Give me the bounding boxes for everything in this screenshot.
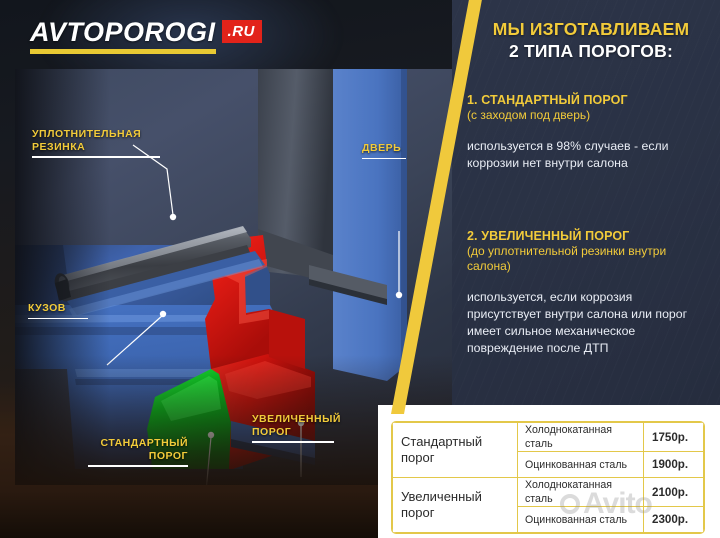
price-cell: 2300р. — [644, 507, 704, 533]
table-row: Стандартный порог Холоднокатанная сталь … — [393, 423, 704, 452]
price-cell: 1750р. — [644, 423, 704, 452]
price-cell: 1900р. — [644, 452, 704, 478]
price-table: Стандартный порог Холоднокатанная сталь … — [391, 421, 705, 534]
watermark-text: Avito — [583, 487, 652, 521]
row-label-enlarged: Увеличенный порог — [393, 478, 518, 533]
label-underline — [32, 156, 160, 158]
label-sealing-rubber-text: УПЛОТНИТЕЛЬНАЯ РЕЗИНКА — [32, 128, 141, 153]
headline-line-1: МЫ ИЗГОТАВЛИВАЕМ — [471, 18, 711, 40]
poster-root: AVTOPOROGI .RU — [0, 0, 720, 538]
price-cell: 2100р. — [644, 478, 704, 507]
block-1-body: используется в 98% случаев - если корроз… — [467, 138, 701, 172]
logo-underline-bar — [30, 49, 216, 54]
label-door: ДВЕРЬ — [362, 142, 406, 159]
headline: МЫ ИЗГОТАВЛИВАЕМ 2 ТИПА ПОРОГОВ: — [471, 18, 711, 62]
label-standard-sill: СТАНДАРТНЫЙ ПОРОГ — [88, 437, 188, 467]
sill-type-block-1: 1. СТАНДАРТНЫЙ ПОРОГ (с заходом под двер… — [467, 92, 701, 172]
label-standard-sill-text: СТАНДАРТНЫЙ ПОРОГ — [101, 437, 189, 462]
label-underline — [88, 465, 188, 467]
logo-wordmark: AVTOPOROGI — [30, 18, 216, 54]
label-car-body-text: КУЗОВ — [28, 302, 66, 314]
label-door-text: ДВЕРЬ — [362, 142, 401, 154]
row-label-standard: Стандартный порог — [393, 423, 518, 478]
label-enlarged-sill-text: УВЕЛИЧЕННЫЙ ПОРОГ — [252, 413, 341, 438]
material-cell: Холоднокатанная сталь — [518, 423, 644, 452]
logo-tld-badge: .RU — [222, 20, 262, 43]
avito-watermark: Avito — [560, 487, 652, 521]
price-table-grid: Стандартный порог Холоднокатанная сталь … — [392, 422, 704, 533]
label-underline — [252, 441, 334, 443]
logo-text: AVTOPOROGI — [30, 18, 216, 46]
block-1-subtitle: (с заходом под дверь) — [467, 108, 701, 123]
headline-line-2: 2 ТИПА ПОРОГОВ: — [471, 40, 711, 62]
block-1-title: 1. СТАНДАРТНЫЙ ПОРОГ — [467, 92, 701, 108]
table-row: Увеличенный порог Холоднокатанная сталь … — [393, 478, 704, 507]
label-underline — [362, 158, 406, 160]
label-underline — [28, 318, 88, 320]
block-2-title: 2. УВЕЛИЧЕННЫЙ ПОРОГ — [467, 228, 701, 244]
label-sealing-rubber: УПЛОТНИТЕЛЬНАЯ РЕЗИНКА — [32, 128, 160, 158]
block-2-body: используется, если коррозия присутствует… — [467, 289, 701, 357]
site-logo[interactable]: AVTOPOROGI .RU — [30, 18, 262, 54]
watermark-ring-icon — [560, 494, 580, 514]
label-enlarged-sill: УВЕЛИЧЕННЫЙ ПОРОГ — [252, 413, 334, 443]
material-cell: Оцинкованная сталь — [518, 452, 644, 478]
sill-type-block-2: 2. УВЕЛИЧЕННЫЙ ПОРОГ (до уплотнительной … — [467, 228, 701, 357]
block-2-subtitle: (до уплотнительной резинки внутри салона… — [467, 244, 701, 274]
label-car-body: КУЗОВ — [28, 302, 88, 319]
